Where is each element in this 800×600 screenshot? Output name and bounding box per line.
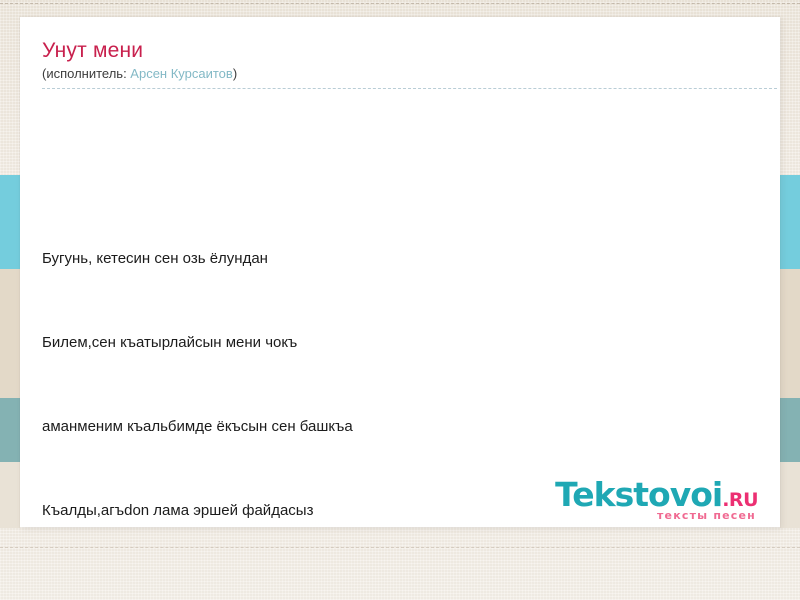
decor-band-left-bright xyxy=(0,175,20,269)
site-logo-wordmark: Tekstovoi.RU xyxy=(555,478,758,512)
lyric-line: Билем,сен къатырлайсын мени чокъ xyxy=(42,329,756,357)
decor-band-left-sand-lower xyxy=(0,462,20,528)
page-backdrop: Унут мени (исполнитель: Арсен Курсаитов)… xyxy=(0,0,800,600)
lyric-line: аманменим къальбимде ёкъсын сен башкъа xyxy=(42,413,756,441)
header-separator xyxy=(42,88,777,89)
site-logo[interactable]: Tekstovoi.RU тексты песен xyxy=(555,478,758,522)
decor-band-right-bright xyxy=(780,175,800,269)
decor-band-right-sand-lower xyxy=(780,462,800,528)
wallpaper-rule-bottom xyxy=(0,547,800,548)
artist-line: (исполнитель: Арсен Курсаитов) xyxy=(42,66,756,88)
decor-band-left-muted xyxy=(0,398,20,462)
wallpaper-rule-top xyxy=(0,3,800,4)
artist-prefix-text: (исполнитель: xyxy=(42,66,130,81)
lyrics-card: Унут мени (исполнитель: Арсен Курсаитов)… xyxy=(20,17,780,527)
site-logo-tld: .RU xyxy=(722,489,758,511)
artist-link[interactable]: Арсен Курсаитов xyxy=(130,66,233,81)
lyric-line: Бугунь, кетесин сен озь ёлундан xyxy=(42,245,756,273)
site-logo-name: Tekstovoi xyxy=(555,478,722,512)
decor-band-left-sand-upper xyxy=(0,269,20,398)
decor-band-right-sand-upper xyxy=(780,269,800,398)
decor-band-right-muted xyxy=(780,398,800,462)
page-title: Унут мени xyxy=(42,39,756,63)
artist-suffix-text: ) xyxy=(233,66,237,81)
lyrics-card-inner: Унут мени (исполнитель: Арсен Курсаитов)… xyxy=(20,17,780,527)
lyrics-body: Бугунь, кетесин сен озь ёлундан Билем,се… xyxy=(42,105,756,527)
